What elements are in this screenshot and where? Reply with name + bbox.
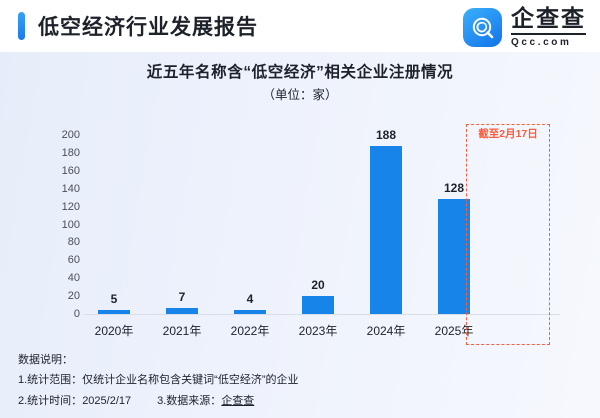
y-axis-tick: 180 <box>42 147 80 159</box>
y-axis-tick: 80 <box>42 236 80 248</box>
y-axis-tick: 120 <box>42 201 80 213</box>
bar-value-label: 7 <box>152 290 212 304</box>
footer-note-source-prefix: 3.数据来源： <box>157 395 221 407</box>
x-axis-tick: 2020年 <box>77 322 151 339</box>
footer-notes: 数据说明： 1.统计范围：仅统计企业名称包含关键词“低空经济”的企业 2.统计时… <box>18 350 582 411</box>
annotation-label: 截至2月17日 <box>467 126 549 141</box>
y-axis-tick: 60 <box>42 254 80 266</box>
x-axis-tick: 2024年 <box>349 322 423 339</box>
footer-note-time-prefix: 2.统计时间： <box>18 395 82 407</box>
footer-note-time-source: 2.统计时间：2025/2/173.数据来源：企查查 <box>18 391 582 411</box>
footer-note-time-value: 2025/2/17 <box>82 395 131 407</box>
bar-value-label: 20 <box>288 278 348 292</box>
bar[interactable] <box>166 308 198 314</box>
y-axis-tick: 40 <box>42 272 80 284</box>
bar[interactable] <box>302 296 334 314</box>
footer-note-source-value[interactable]: 企查查 <box>221 395 254 407</box>
annotation-dashed-box <box>466 124 550 345</box>
bar-value-label: 188 <box>356 128 416 142</box>
y-axis-tick: 160 <box>42 165 80 177</box>
y-axis-tick: 0 <box>42 308 80 320</box>
footer-note-scope: 1.统计范围：仅统计企业名称包含关键词“低空经济”的企业 <box>18 370 582 390</box>
bar-value-label: 4 <box>220 292 280 306</box>
x-axis-tick: 2023年 <box>281 322 355 339</box>
y-axis-tick: 140 <box>42 183 80 195</box>
bar-value-label: 5 <box>84 292 144 306</box>
x-axis-tick: 2021年 <box>145 322 219 339</box>
bar[interactable] <box>370 146 402 314</box>
y-axis-tick: 200 <box>42 129 80 141</box>
y-axis-tick: 20 <box>42 290 80 302</box>
bar[interactable] <box>234 310 266 314</box>
bar[interactable] <box>98 310 130 314</box>
x-axis-tick: 2022年 <box>213 322 287 339</box>
y-axis-tick: 100 <box>42 219 80 231</box>
footer-heading: 数据说明： <box>18 350 582 370</box>
